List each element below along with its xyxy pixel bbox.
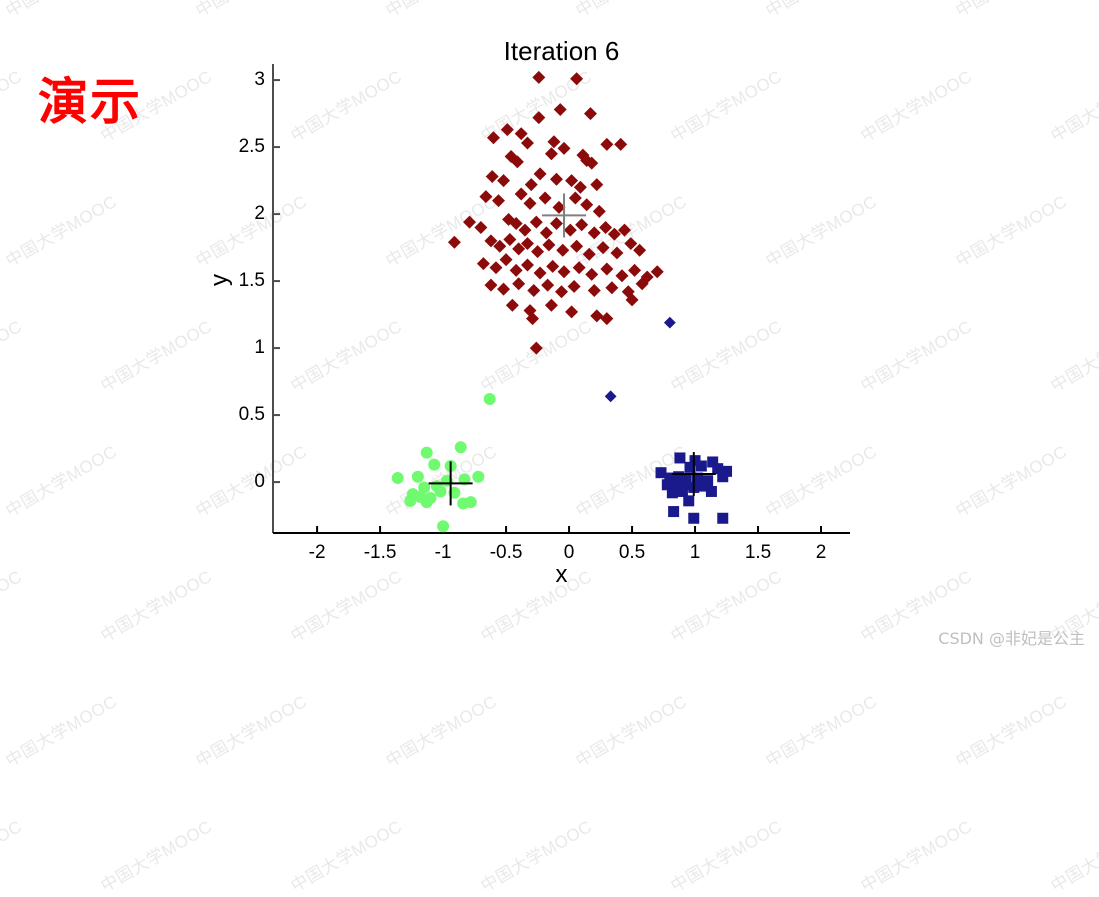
data-point-diamond (486, 170, 499, 183)
data-point-diamond (615, 269, 628, 282)
x-tick-label: 1 (690, 542, 701, 564)
y-tick-label: 2.5 (239, 136, 265, 158)
data-point-diamond (530, 216, 543, 229)
data-point-diamond (597, 241, 610, 254)
data-point-circle (455, 441, 467, 453)
y-tick-label: 3 (254, 69, 265, 91)
y-tick-label: 1 (254, 337, 265, 359)
data-point-diamond (588, 284, 601, 297)
data-point-diamond (532, 71, 545, 84)
data-point-diamond (479, 190, 492, 203)
data-point-diamond (510, 264, 523, 277)
y-tick-label: 0.5 (239, 404, 265, 426)
data-point-diamond (569, 192, 582, 205)
data-point-square (696, 461, 707, 472)
data-point-diamond (570, 240, 583, 253)
data-point-diamond (521, 259, 534, 272)
data-point-diamond (515, 187, 528, 200)
data-point-circle (435, 485, 447, 497)
data-point-diamond (540, 226, 553, 239)
data-point-square (677, 486, 688, 497)
data-point-diamond (600, 138, 613, 151)
data-point-diamond (605, 281, 618, 294)
data-point-circle (392, 472, 404, 484)
data-point-diamond (558, 142, 571, 155)
data-point-diamond (545, 147, 558, 160)
data-point-diamond (448, 236, 461, 249)
data-point-diamond (555, 285, 568, 298)
data-point-diamond (593, 205, 606, 218)
data-point-diamond (484, 279, 497, 292)
data-point-diamond (534, 167, 547, 180)
axes-group (273, 64, 850, 533)
data-point-diamond (628, 264, 641, 277)
data-point-diamond (546, 260, 559, 273)
data-point-diamond (530, 342, 543, 355)
csdn-credit-text: CSDN @非妃是公主 (938, 625, 1085, 649)
data-point-diamond (512, 277, 525, 290)
data-point-circle (421, 496, 433, 508)
data-point-circle (404, 495, 416, 507)
watermark-text: 中国大学MOOC (95, 813, 216, 897)
data-point-diamond (541, 279, 554, 292)
data-point-square (683, 495, 694, 506)
data-point-diamond (573, 261, 586, 274)
data-point-square (717, 513, 728, 524)
data-points-group (392, 71, 732, 532)
data-point-diamond (558, 265, 571, 278)
x-tick-label: -2 (309, 542, 326, 564)
x-tick-label: 0 (564, 542, 575, 564)
x-axis-label: x (273, 561, 850, 589)
watermark-text: 中国大学MOOC (1045, 813, 1099, 897)
data-point-diamond (501, 123, 514, 136)
data-point-diamond (664, 317, 676, 329)
watermark-text: 中国大学MOOC (475, 813, 596, 897)
data-point-diamond (503, 233, 516, 246)
data-point-diamond (600, 312, 613, 325)
data-point-diamond (556, 244, 569, 257)
x-tick-label: -1.5 (364, 542, 397, 564)
data-point-diamond (474, 221, 487, 234)
data-point-square (717, 471, 728, 482)
data-point-circle (484, 393, 496, 405)
centroid-markers-group (429, 193, 716, 505)
data-point-circle (465, 496, 477, 508)
demo-annotation-text: 演示 (38, 62, 142, 134)
data-point-diamond (531, 245, 544, 258)
y-tick-label: 0 (254, 471, 265, 493)
data-point-diamond (605, 390, 617, 402)
data-point-diamond (554, 103, 567, 116)
watermark-text: 中国大学MOOC (760, 688, 881, 772)
data-point-diamond (568, 280, 581, 293)
watermark-text: 中国大学MOOC (950, 688, 1071, 772)
data-point-diamond (497, 174, 510, 187)
data-point-diamond (489, 261, 502, 274)
data-point-diamond (539, 192, 552, 205)
data-point-diamond (590, 309, 603, 322)
data-point-square (674, 452, 685, 463)
x-tick-label: 0.5 (619, 542, 645, 564)
x-tick-label: 2 (816, 542, 827, 564)
watermark-text: 中国大学MOOC (855, 813, 976, 897)
data-point-diamond (610, 246, 623, 259)
data-point-diamond (545, 299, 558, 312)
data-point-diamond (497, 283, 510, 296)
data-point-circle (421, 447, 433, 459)
data-point-diamond (588, 226, 601, 239)
data-point-diamond (614, 138, 627, 151)
data-point-diamond (564, 224, 577, 237)
data-point-square (688, 513, 699, 524)
data-point-diamond (515, 127, 528, 140)
watermark-text: 中国大学MOOC (380, 688, 501, 772)
data-point-diamond (547, 135, 560, 148)
data-point-diamond (580, 198, 593, 211)
data-point-diamond (534, 267, 547, 280)
watermark-text: 中国大学MOOC (665, 813, 786, 897)
y-tick-label: 1.5 (239, 270, 265, 292)
data-point-circle (412, 471, 424, 483)
data-point-diamond (463, 216, 476, 229)
data-point-diamond (506, 299, 519, 312)
watermark-text: 中国大学MOOC (570, 688, 691, 772)
data-point-diamond (600, 263, 613, 276)
x-tick-label: 1.5 (745, 542, 771, 564)
y-axis-label: y (206, 274, 234, 286)
data-point-diamond (583, 248, 596, 261)
data-point-diamond (524, 197, 537, 210)
data-point-circle (437, 520, 449, 532)
data-point-diamond (550, 217, 563, 230)
data-point-square (706, 486, 717, 497)
data-point-diamond (585, 268, 598, 281)
data-point-diamond (590, 178, 603, 191)
data-point-diamond (525, 178, 538, 191)
data-point-diamond (492, 194, 505, 207)
watermark-text: 中国大学MOOC (0, 688, 121, 772)
data-point-diamond (565, 305, 578, 318)
watermark-text: 中国大学MOOC (0, 813, 26, 897)
data-point-diamond (542, 238, 555, 251)
matlab-figure: Iteration 6 x y -2-1.5-1-0.500.511.5200.… (0, 0, 1099, 663)
data-point-diamond (584, 107, 597, 120)
data-point-square (667, 487, 678, 498)
data-point-square (668, 506, 679, 517)
watermark-text: 中国大学MOOC (190, 688, 311, 772)
data-point-diamond (487, 131, 500, 144)
data-point-diamond (500, 253, 513, 266)
data-point-circle (472, 471, 484, 483)
watermark-text: 中国大学MOOC (285, 813, 406, 897)
x-tick-label: -0.5 (490, 542, 523, 564)
data-point-diamond (527, 284, 540, 297)
data-point-diamond (575, 218, 588, 231)
data-point-diamond (550, 173, 563, 186)
page-title: Iteration 6 (273, 36, 850, 67)
data-point-diamond (521, 137, 534, 150)
data-point-circle (428, 459, 440, 471)
y-tick-label: 2 (254, 203, 265, 225)
data-point-diamond (532, 111, 545, 124)
data-point-diamond (477, 257, 490, 270)
x-tick-label: -1 (435, 542, 452, 564)
data-point-diamond (570, 72, 583, 85)
